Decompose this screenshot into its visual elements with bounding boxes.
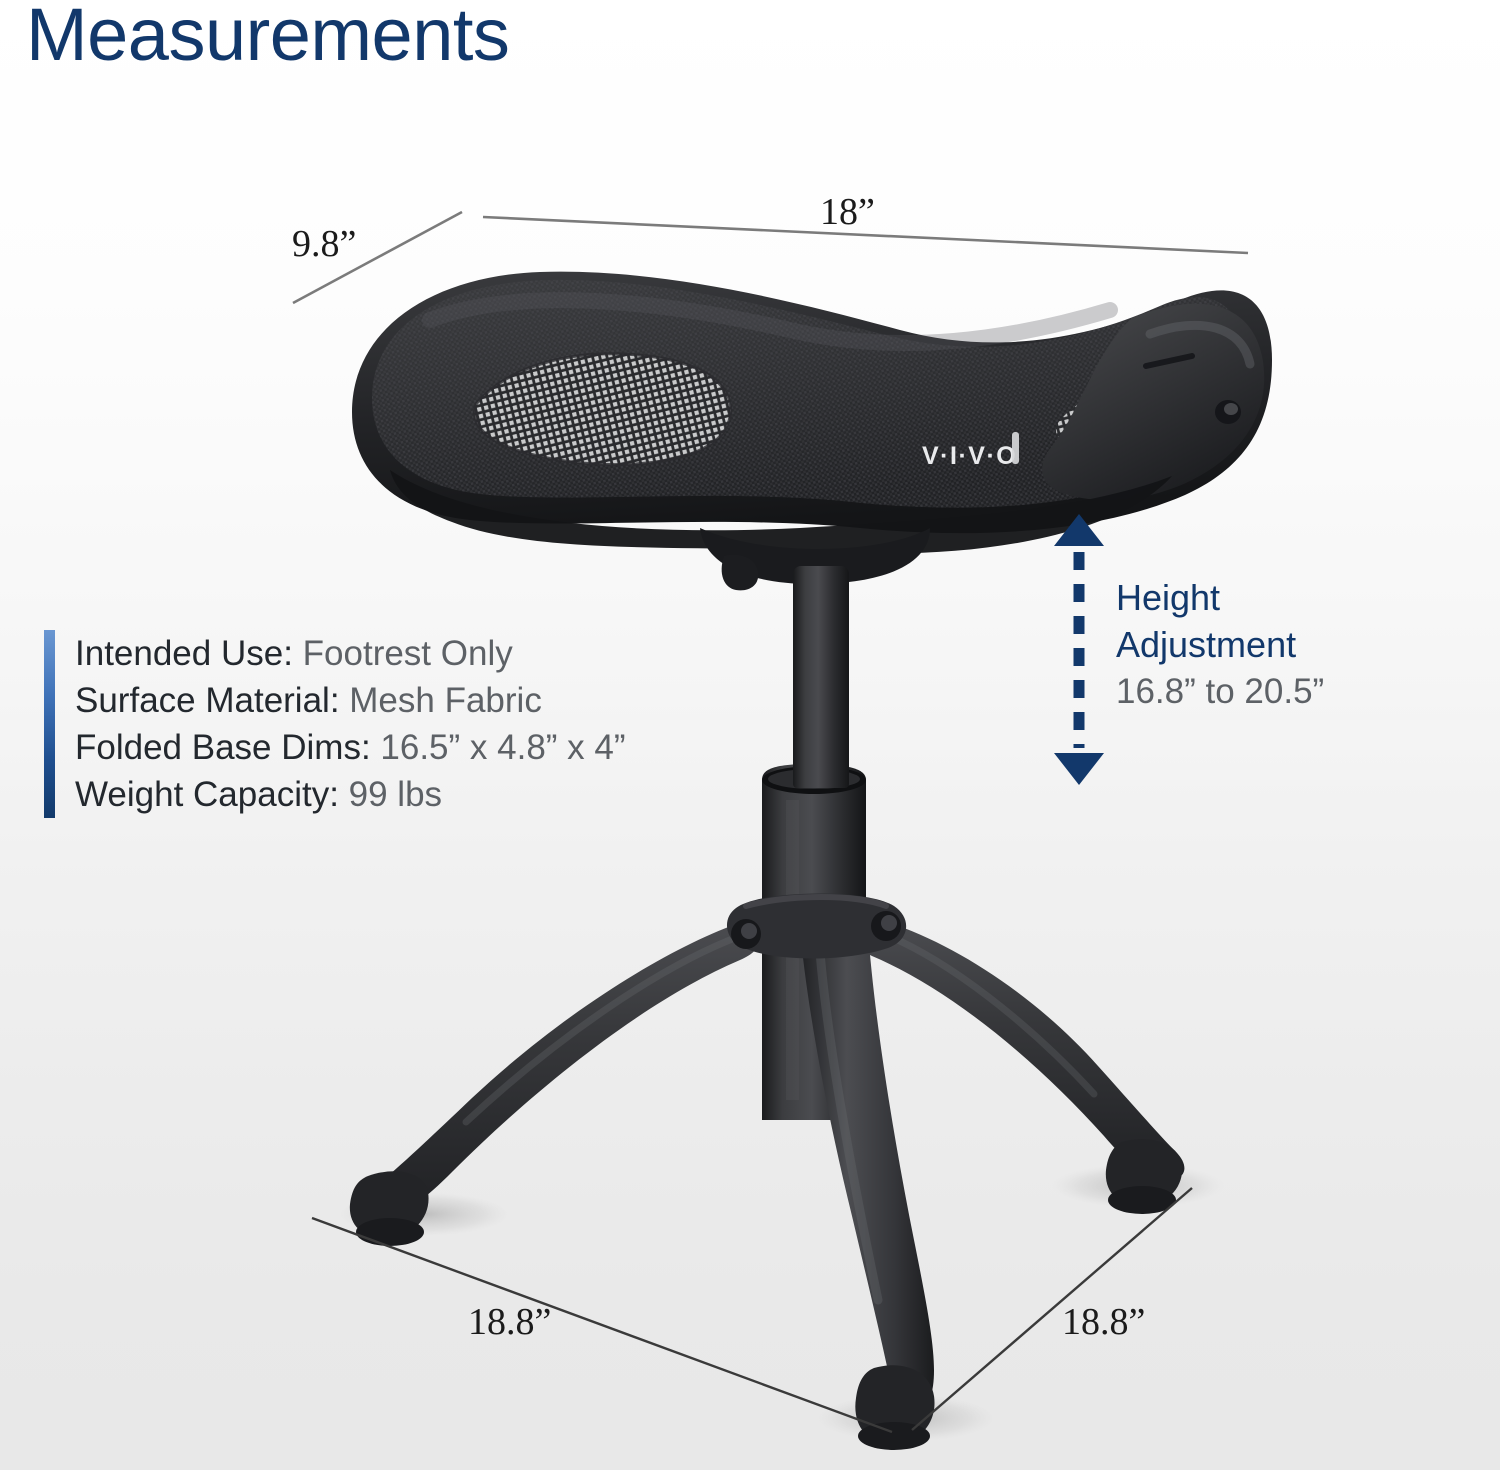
- page-title: Measurements: [26, 0, 509, 77]
- specifications-list: Intended Use: Footrest Only Surface Mate…: [75, 630, 626, 818]
- dimension-line-base-left: [312, 1218, 892, 1432]
- measurements-diagram: Measurements: [0, 0, 1500, 1470]
- spec-label-folded-base-dims: Folded Base Dims:: [75, 728, 380, 767]
- specifications-block: Intended Use: Footrest Only Surface Mate…: [44, 630, 626, 818]
- svg-text:V·I·V·O: V·I·V·O: [922, 442, 1017, 470]
- spec-value-intended-use: Footrest Only: [303, 634, 513, 673]
- accent-bar: [44, 630, 55, 818]
- dimension-line-base-right: [912, 1188, 1192, 1430]
- spec-value-weight-capacity: 99 lbs: [349, 775, 442, 814]
- height-adjust-column: [762, 566, 866, 1120]
- spec-value-folded-base-dims: 16.5” x 4.8” x 4”: [380, 728, 625, 767]
- spec-row-folded-base-dims: Folded Base Dims: 16.5” x 4.8” x 4”: [75, 724, 626, 771]
- dimension-label-seat-width: 18”: [820, 190, 875, 234]
- spec-value-surface-material: Mesh Fabric: [349, 681, 542, 720]
- height-adjustment-callout: Height Adjustment 16.8” to 20.5”: [1052, 512, 1382, 797]
- spec-row-surface-material: Surface Material: Mesh Fabric: [75, 677, 626, 724]
- height-range-value: 16.8” to 20.5”: [1116, 668, 1378, 716]
- height-adjustment-text: Height Adjustment 16.8” to 20.5”: [1116, 574, 1378, 716]
- dimension-label-base-right: 18.8”: [1062, 1300, 1145, 1344]
- dimension-label-seat-depth: 9.8”: [292, 222, 356, 266]
- dimension-label-base-left: 18.8”: [468, 1300, 551, 1344]
- height-label-line2: Adjustment: [1116, 621, 1378, 668]
- double-arrow-vertical-icon: [1052, 512, 1114, 787]
- spec-row-intended-use: Intended Use: Footrest Only: [75, 630, 626, 677]
- spec-label-surface-material: Surface Material:: [75, 681, 349, 720]
- spec-label-weight-capacity: Weight Capacity:: [75, 775, 349, 814]
- spec-label-intended-use: Intended Use:: [75, 634, 303, 673]
- brand-logo: V·I·V·O: [922, 432, 1019, 470]
- tripod-base: [338, 893, 1224, 1450]
- height-label-line1: Height: [1116, 574, 1378, 621]
- spec-row-weight-capacity: Weight Capacity: 99 lbs: [75, 771, 626, 818]
